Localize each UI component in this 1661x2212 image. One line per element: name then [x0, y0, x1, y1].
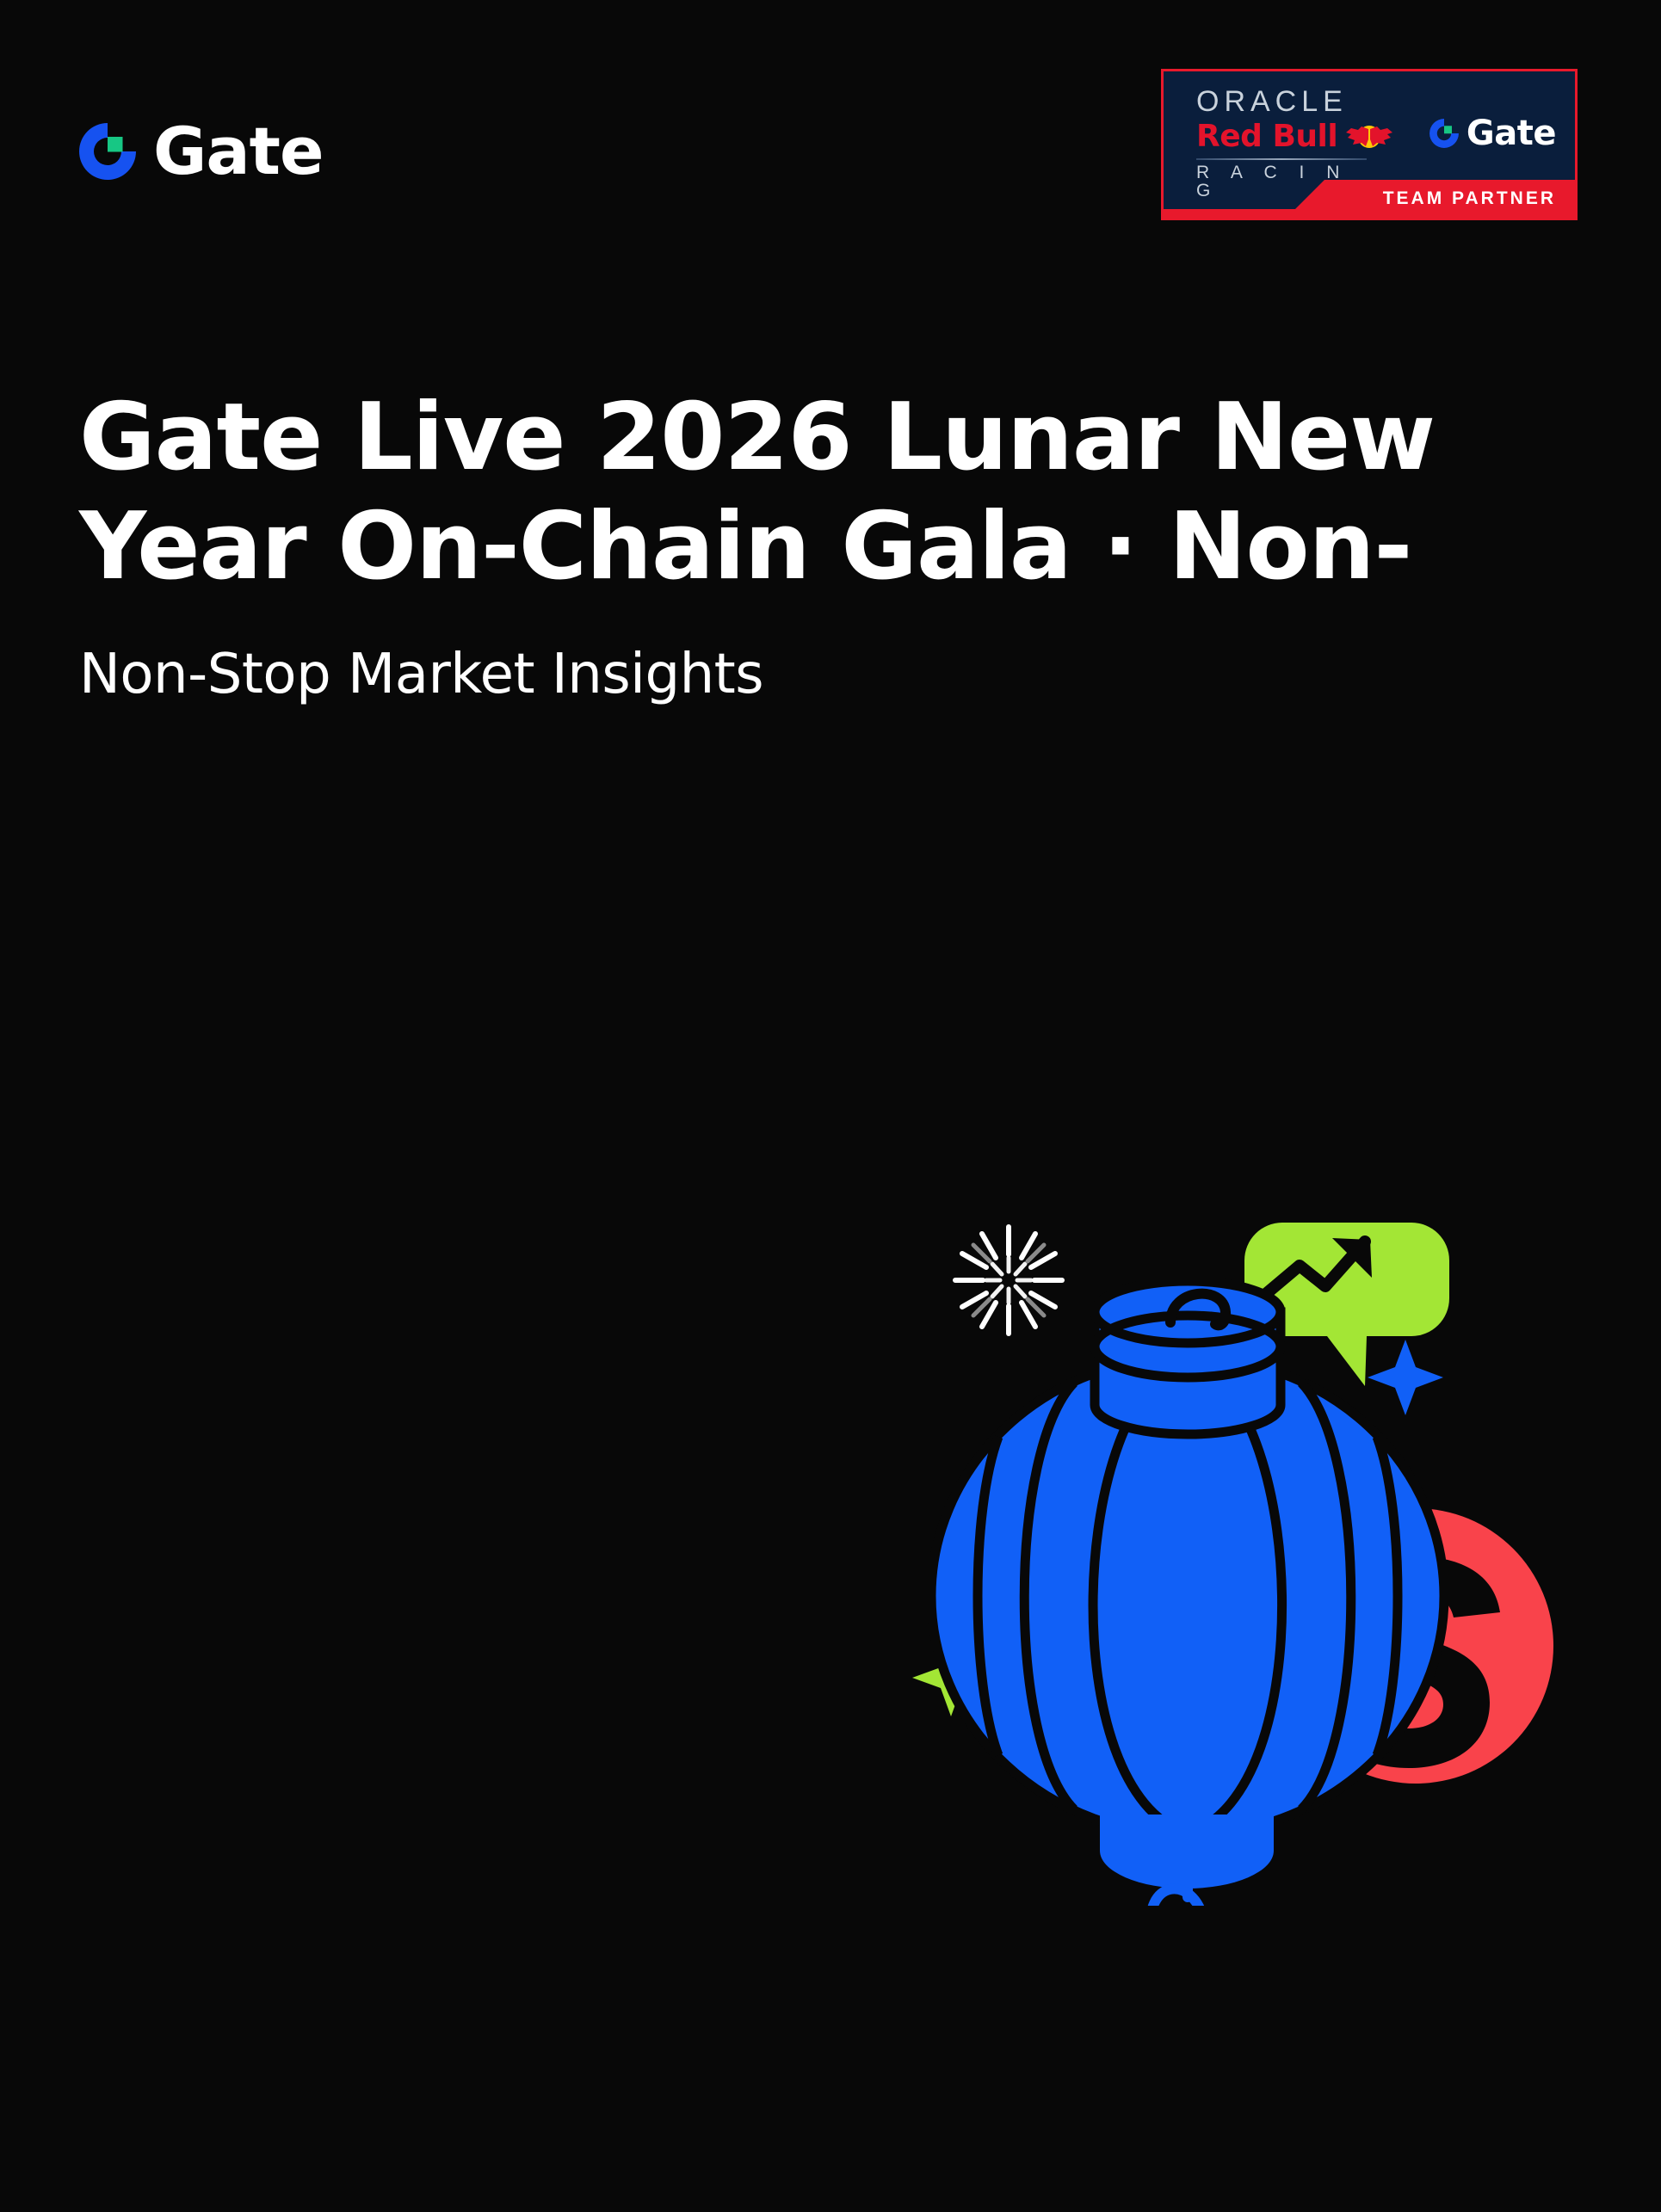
firework-burst-icon [955, 1227, 1062, 1334]
blue-four-point-star-icon [1368, 1340, 1443, 1415]
team-partner-label: TEAM PARTNER [1383, 188, 1556, 209]
page-subtitle: Non-Stop Market Insights [79, 642, 1473, 708]
badge-bottom-rule [1164, 209, 1575, 218]
badge-gate-wordmark: Gate [1466, 116, 1556, 151]
red-bull-charging-bulls-icon [1343, 122, 1396, 151]
page-header: Gate ORACLE Red Bull R A C I [0, 0, 1661, 258]
gate-logo-mark-icon [1428, 117, 1460, 150]
badge-gate-logo: Gate [1428, 116, 1556, 151]
oracle-red-bull-racing-team-partner-badge: ORACLE Red Bull R A C I N G [1161, 69, 1578, 220]
gate-logo-mark-icon [76, 120, 139, 183]
oracle-wordmark: ORACLE [1196, 87, 1381, 116]
badge-divider [1196, 158, 1367, 160]
gate-wordmark: Gate [153, 119, 324, 184]
lunar-new-year-lantern-illustration [878, 1140, 1635, 1906]
gate-brand-logo[interactable]: Gate [76, 119, 324, 184]
title-block: Gate Live 2026 Lunar New Year On-Chain G… [79, 383, 1473, 708]
blue-lantern-icon [931, 1281, 1444, 1889]
red-bull-wordmark: Red Bull [1196, 121, 1337, 152]
page-title: Gate Live 2026 Lunar New Year On-Chain G… [79, 383, 1473, 602]
